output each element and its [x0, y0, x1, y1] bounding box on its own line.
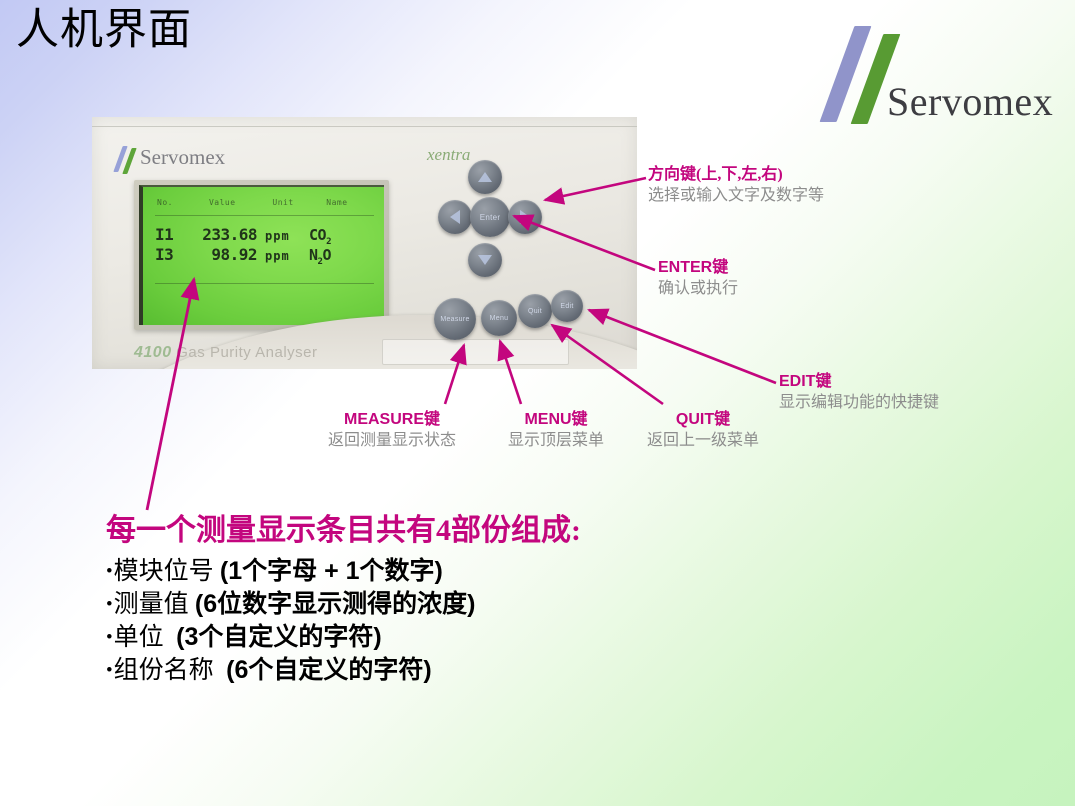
measurement-entry-explanation: 每一个测量显示条目共有4部份组成: •模块位号 (1个字母 + 1个数字) •测… — [106, 512, 926, 687]
list-item: •组份名称 (6个自定义的字符) — [106, 654, 926, 687]
callout-menu-title: MENU键 — [508, 410, 604, 430]
lcd-rule-bottom — [155, 283, 374, 284]
menu-button-label: Menu — [490, 315, 509, 322]
callout-enter-title: ENTER键 — [658, 258, 738, 278]
lcd-header-value: Value — [209, 198, 272, 207]
page-title: 人机界面 — [16, 6, 192, 55]
lcd-row-name: CO2 — [309, 226, 369, 247]
slide-canvas: 人机界面 Servomex Servomex xentra No. Value … — [0, 0, 1075, 806]
bullet-icon: • — [106, 561, 113, 582]
lcd-row-unit: ppm — [265, 249, 309, 263]
lcd-header-name: Name — [326, 198, 384, 207]
device-logo-wordmark: Servomex — [140, 145, 225, 170]
edit-button[interactable]: Edit — [551, 290, 583, 322]
callout-direction-desc: 选择或输入文字及数字等 — [648, 186, 824, 207]
explanation-list: •模块位号 (1个字母 + 1个数字) •测量值 (6位数字显示测得的浓度) •… — [106, 555, 926, 687]
lcd-screen: No. Value Unit Name I1 233.68 ppm CO2 I3 — [139, 185, 384, 325]
arrow-right-button[interactable] — [508, 200, 542, 234]
list-item: •单位 (3个自定义的字符) — [106, 621, 926, 654]
callout-quit-title: QUIT键 — [647, 410, 759, 430]
bullet-icon: • — [106, 594, 113, 615]
lcd-header-no: No. — [143, 198, 209, 207]
list-item-label: 组份名称 — [114, 657, 214, 684]
list-item-detail: (1个字母 + 1个数字) — [220, 557, 443, 585]
callout-quit-key: QUIT键 返回上一级菜单 — [647, 410, 759, 452]
list-item-detail: (6位数字显示测得的浓度) — [195, 590, 476, 618]
lcd-rule-top — [155, 215, 374, 216]
servomex-logo: Servomex — [815, 22, 1065, 132]
menu-button[interactable]: Menu — [481, 300, 517, 336]
arrow-left-button[interactable] — [438, 200, 472, 234]
explanation-heading: 每一个测量显示条目共有4部份组成: — [106, 512, 926, 550]
device-front-slot — [382, 339, 569, 365]
callout-enter-desc: 确认或执行 — [658, 279, 738, 300]
quit-button[interactable]: Quit — [518, 294, 552, 328]
lcd-row-value: 233.68 — [185, 225, 265, 244]
measure-button[interactable]: Measure — [434, 298, 476, 340]
list-item-label: 单位 — [114, 624, 164, 651]
callout-measure-key: MEASURE键 返回测量显示状态 — [328, 410, 456, 452]
lcd-row-unit: ppm — [265, 229, 309, 243]
analyser-device-photo: Servomex xentra No. Value Unit Name I1 2… — [92, 117, 637, 369]
bullet-icon: • — [106, 660, 113, 681]
callout-direction-title: 方向键(上,下,左,右) — [648, 165, 824, 185]
callout-menu-desc: 显示顶层菜单 — [508, 431, 604, 452]
device-servomex-logo: Servomex — [114, 143, 274, 173]
quit-button-label: Quit — [528, 308, 542, 315]
lcd-row-no: I3 — [155, 245, 185, 264]
device-series-label: xentra — [427, 145, 470, 165]
callout-direction-keys: 方向键(上,下,左,右) 选择或输入文字及数字等 — [648, 165, 824, 207]
list-item-label: 测量值 — [114, 591, 189, 618]
enter-button-label: Enter — [480, 213, 501, 222]
logo-wordmark: Servomex — [887, 78, 1053, 125]
lcd-column-headers: No. Value Unit Name — [143, 198, 384, 207]
callout-measure-desc: 返回测量显示状态 — [328, 431, 456, 452]
callout-enter-key: ENTER键 确认或执行 — [658, 258, 738, 300]
lcd-bezel: No. Value Unit Name I1 233.68 ppm CO2 I3 — [134, 180, 389, 330]
lcd-row-no: I1 — [155, 225, 185, 244]
arrow-up-button[interactable] — [468, 160, 502, 194]
callout-edit-key: EDIT键 显示编辑功能的快捷键 — [779, 372, 939, 414]
lcd-measurement-row: I1 233.68 ppm CO2 — [155, 225, 376, 245]
list-item-detail: (6个自定义的字符) — [226, 656, 432, 684]
bullet-icon: • — [106, 627, 113, 648]
lcd-row-name: N2O — [309, 246, 369, 267]
callout-quit-desc: 返回上一级菜单 — [647, 431, 759, 452]
callout-edit-title: EDIT键 — [779, 372, 939, 392]
triangle-left-icon — [450, 210, 460, 224]
enter-button[interactable]: Enter — [470, 197, 510, 237]
callout-edit-desc: 显示编辑功能的快捷键 — [779, 393, 939, 414]
lcd-row-value: 98.92 — [185, 245, 265, 264]
list-item: •模块位号 (1个字母 + 1个数字) — [106, 555, 926, 588]
edit-button-label: Edit — [560, 303, 573, 310]
triangle-right-icon — [520, 210, 530, 224]
panel-top-seam — [92, 126, 637, 127]
arrow-down-button[interactable] — [468, 243, 502, 277]
list-item-label: 模块位号 — [114, 558, 214, 585]
lcd-header-unit: Unit — [272, 198, 326, 207]
triangle-up-icon — [478, 172, 492, 182]
lcd-measurement-list: I1 233.68 ppm CO2 I3 98.92 ppm N2O — [155, 225, 376, 265]
lcd-measurement-row: I3 98.92 ppm N2O — [155, 245, 376, 265]
callout-measure-title: MEASURE键 — [328, 410, 456, 430]
device-model-label: 4100 Gas Purity Analyser — [134, 344, 317, 362]
list-item: •测量值 (6位数字显示测得的浓度) — [106, 588, 926, 621]
callout-menu-key: MENU键 显示顶层菜单 — [508, 410, 604, 452]
list-item-detail: (3个自定义的字符) — [176, 623, 382, 651]
measure-button-label: Measure — [440, 316, 469, 323]
triangle-down-icon — [478, 255, 492, 265]
